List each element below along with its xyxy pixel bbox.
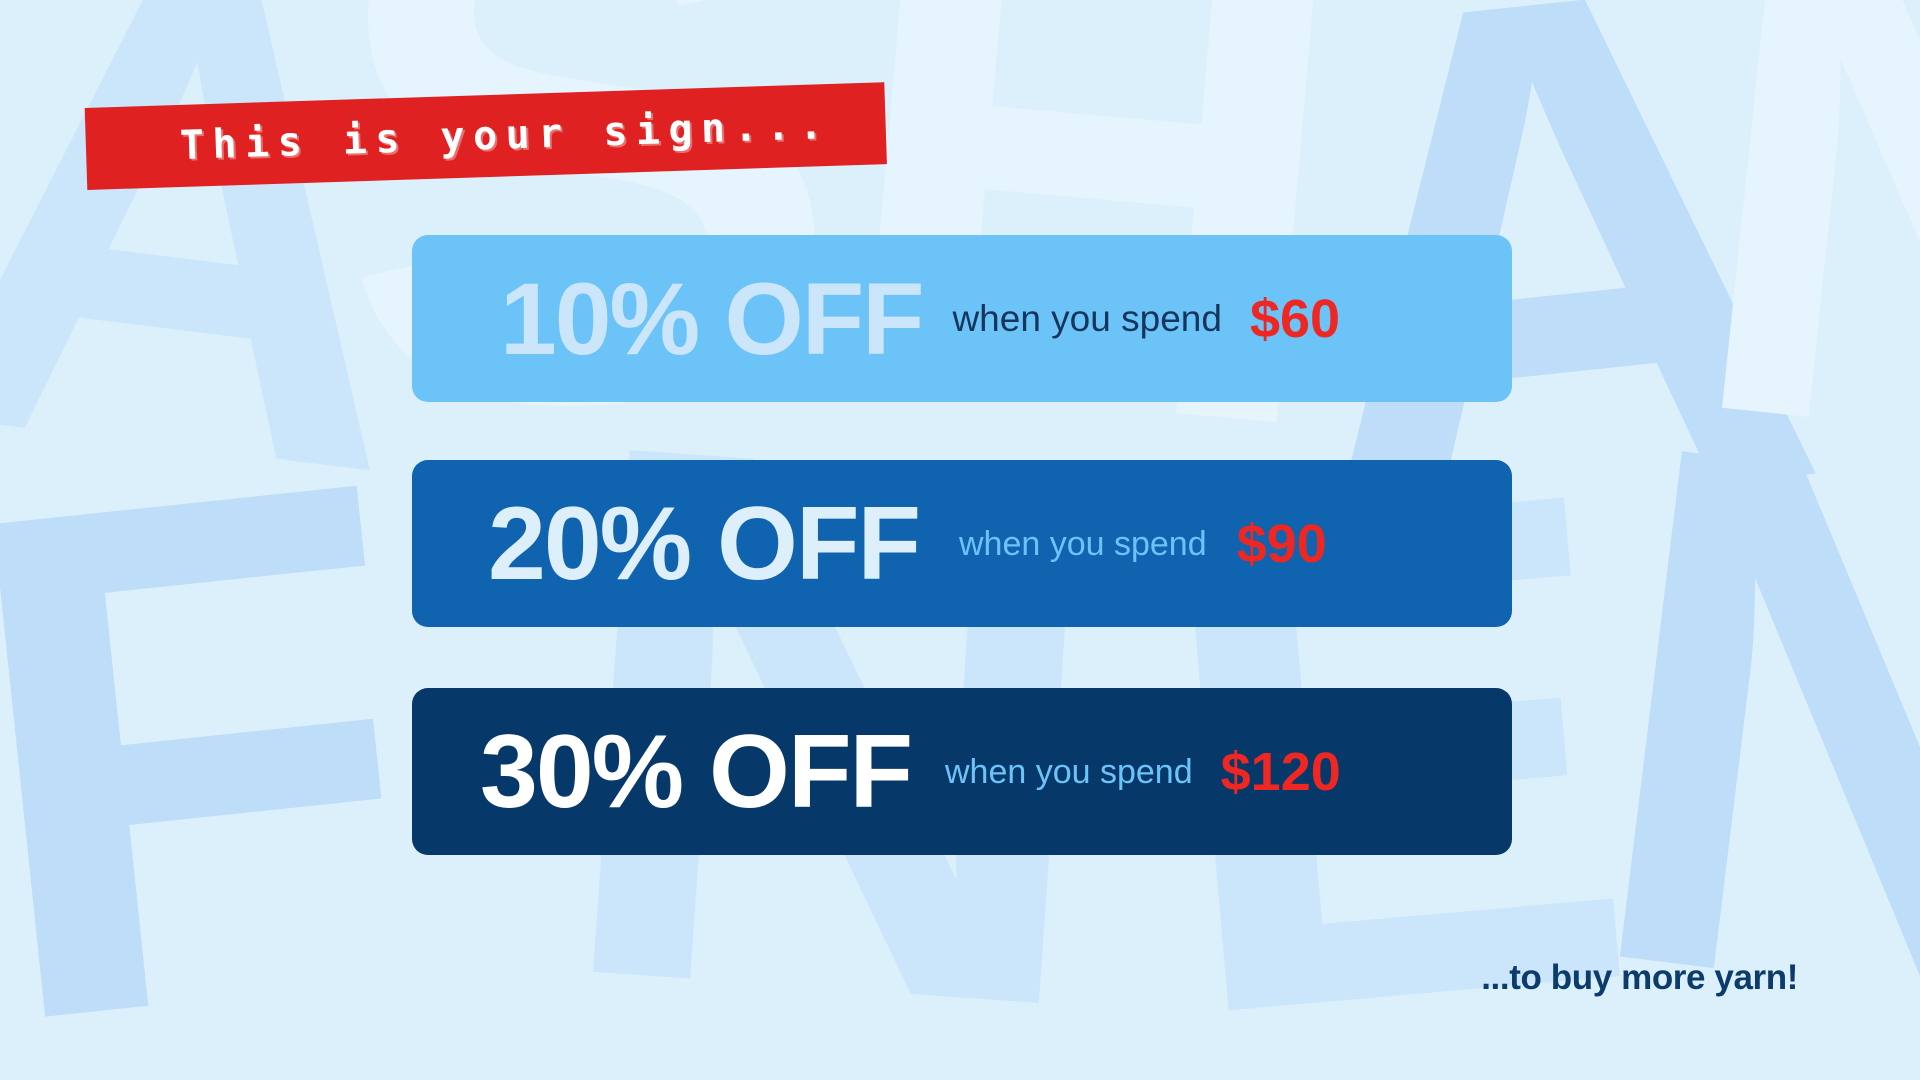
sign-banner-text: This is your sign... [179, 102, 832, 169]
background-letter-f-1: F [0, 449, 438, 1053]
offer-bar-20-percent[interactable]: 20% OFF when you spend $90 [412, 460, 1512, 627]
offer-bar-30-percent[interactable]: 30% OFF when you spend $120 [412, 688, 1512, 855]
offer-amount-value: $90 [1237, 517, 1327, 571]
background-letter-n-3: N [1567, 410, 1920, 1048]
offer-percent-label: 30% OFF [480, 720, 911, 824]
sign-banner: This is your sign... [85, 82, 887, 190]
offer-amount-value: $60 [1250, 292, 1340, 346]
offer-percent-label: 20% OFF [488, 492, 919, 596]
promo-canvas: A S H A N F N E N This is your sign... 1… [0, 0, 1920, 1080]
offer-bar-10-percent[interactable]: 10% OFF when you spend $60 [412, 235, 1512, 402]
tagline: ...to buy more yarn! [1481, 958, 1798, 998]
offer-amount-value: $120 [1221, 745, 1341, 799]
offer-spend-label: when you spend [952, 300, 1221, 337]
background-letter-a-1: A [0, 0, 446, 502]
offer-spend-label: when you spend [945, 755, 1193, 789]
offer-percent-label: 10% OFF [500, 268, 922, 370]
offer-spend-label: when you spend [959, 527, 1207, 561]
background-letter-n-2: N [1674, 0, 1920, 485]
